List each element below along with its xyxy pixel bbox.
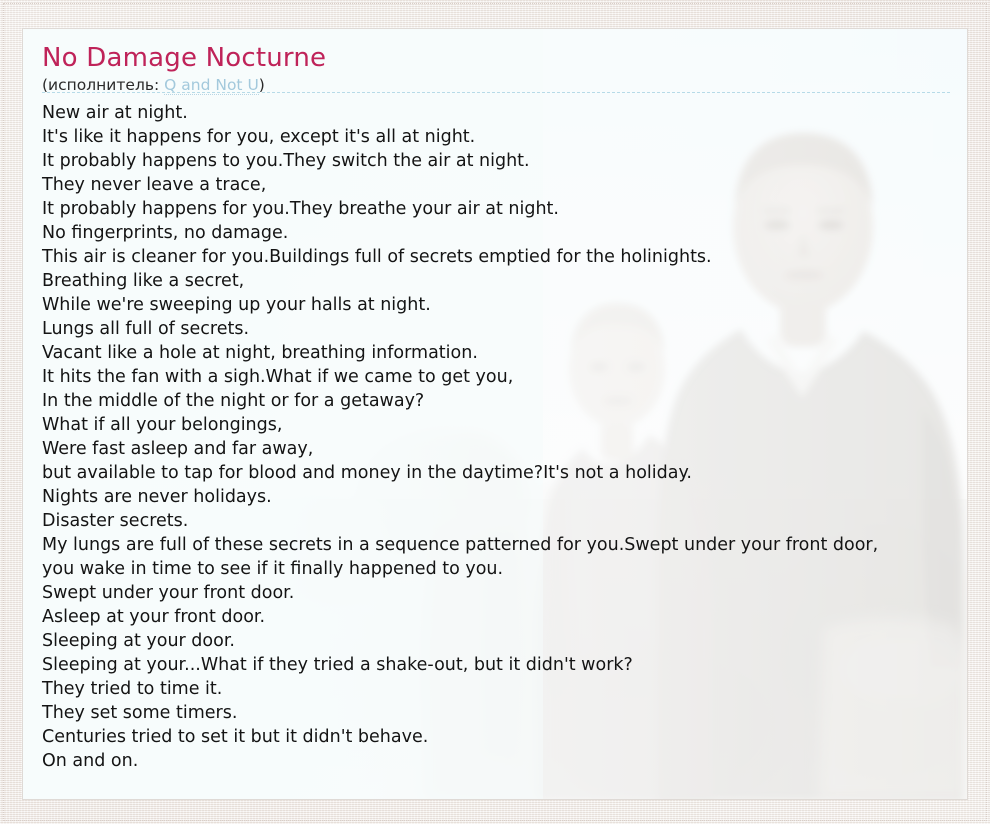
lyric-line: They tried to time it.: [42, 677, 968, 701]
lyric-line: Asleep at your front door.: [42, 605, 968, 629]
lyrics-content-panel: No Damage Nocturne (исполнитель: Q and N…: [22, 28, 968, 800]
lyric-line: My lungs are full of these secrets in a …: [42, 533, 968, 557]
lyrics-text: New air at night.It's like it happens fo…: [42, 101, 968, 773]
song-header: No Damage Nocturne (исполнитель: Q and N…: [42, 43, 953, 95]
lyric-line: Sleeping at your door.: [42, 629, 968, 653]
lyric-line: No fingerprints, no damage.: [42, 221, 968, 245]
lyric-line: It's like it happens for you, except it'…: [42, 125, 968, 149]
lyric-line: but available to tap for blood and money…: [42, 461, 968, 485]
lyric-line: Were fast asleep and far away,: [42, 437, 968, 461]
lyric-line: you wake in time to see if it finally ha…: [42, 557, 968, 581]
lyric-line: It probably happens for you.They breathe…: [42, 197, 968, 221]
lyric-line: Breathing like a secret,: [42, 269, 968, 293]
lyric-line: In the middle of the night or for a geta…: [42, 389, 968, 413]
lyric-line: What if all your belongings,: [42, 413, 968, 437]
lyric-line: While we're sweeping up your halls at ni…: [42, 293, 968, 317]
lyric-line: They never leave a trace,: [42, 173, 968, 197]
lyric-line: They set some timers.: [42, 701, 968, 725]
lyric-line: Sleeping at your...What if they tried a …: [42, 653, 968, 677]
lyric-line: Disaster secrets.: [42, 509, 968, 533]
lyric-line: It probably happens to you.They switch t…: [42, 149, 968, 173]
lyric-line: On and on.: [42, 749, 968, 773]
lyric-line: Lungs all full of secrets.: [42, 317, 968, 341]
lyric-line: Vacant like a hole at night, breathing i…: [42, 341, 968, 365]
page-frame: No Damage Nocturne (исполнитель: Q and N…: [0, 0, 990, 824]
lyric-line: Swept under your front door.: [42, 581, 968, 605]
header-divider: [42, 92, 950, 93]
lyric-line: Nights are never holidays.: [42, 485, 968, 509]
lyric-line: It hits the fan with a sigh.What if we c…: [42, 365, 968, 389]
lyric-line: New air at night.: [42, 101, 968, 125]
page-title: No Damage Nocturne: [42, 43, 953, 73]
lyric-line: This air is cleaner for you.Buildings fu…: [42, 245, 968, 269]
lyric-line: Centuries tried to set it but it didn't …: [42, 725, 968, 749]
